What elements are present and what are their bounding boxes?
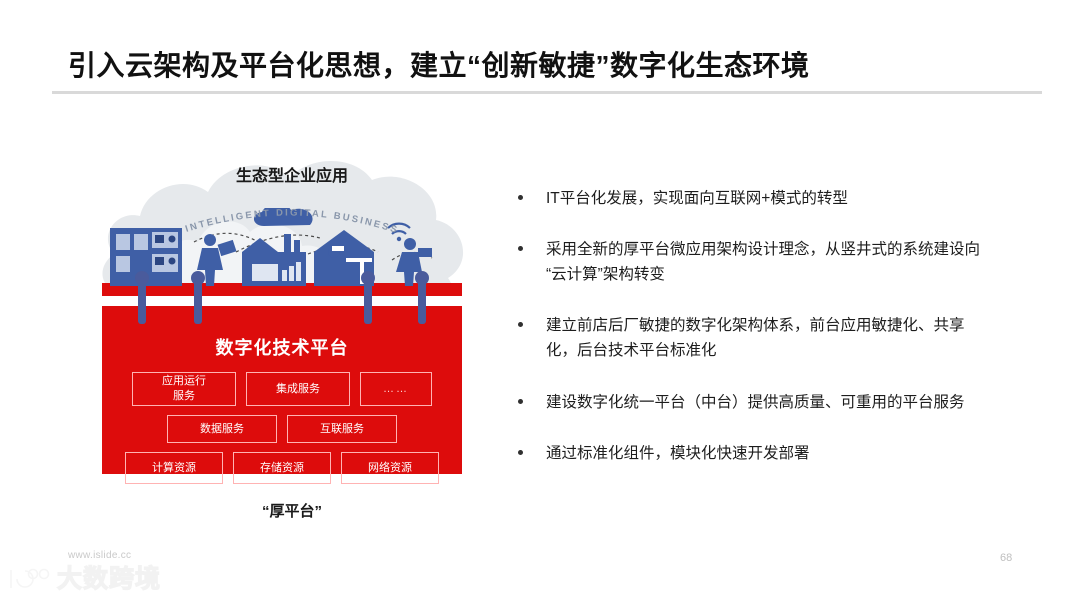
bullet-item-3: 建立前店后厂敏捷的数字化架构体系，前台应用敏捷化、共享化，后台技术平台标准化 xyxy=(512,313,982,363)
platform-caption: “厚平台” xyxy=(92,500,492,521)
bullet-text-5: 通过标准化组件，模块化快速开发部署 xyxy=(546,445,810,462)
platform-heading: 数字化技术平台 xyxy=(102,334,462,360)
service-box-storage: 存储资源 xyxy=(233,452,331,484)
platform-illustration: 生态型企业应用 INTELLIGENT DIGITAL BUSINESS xyxy=(92,150,492,550)
service-box-data: 数据服务 xyxy=(167,415,277,443)
page-number: 68 xyxy=(1000,552,1012,564)
bullet-text-3: 建立前店后厂敏捷的数字化架构体系，前台应用敏捷化、共享化，后台技术平台标准化 xyxy=(546,317,965,359)
service-row-3: 计算资源 存储资源 网络资源 xyxy=(102,452,462,484)
bullet-item-4: 建设数字化统一平台（中台）提供高质量、可重用的平台服务 xyxy=(512,390,982,415)
bullet-list: IT平台化发展，实现面向互联网+模式的转型 采用全新的厚平台微应用架构设计理念，… xyxy=(512,186,982,492)
service-box-app-runtime: 应用运行 服务 xyxy=(132,372,236,406)
service-box-integration: 集成服务 xyxy=(246,372,350,406)
slide-canvas: 引入云架构及平台化思想，建立“创新敏捷”数字化生态环境 生态型企业应用 INTE… xyxy=(0,0,1080,607)
arc-tagline: INTELLIGENT DIGITAL BUSINESS xyxy=(92,180,492,250)
page-title: 引入云架构及平台化思想，建立“创新敏捷”数字化生态环境 xyxy=(68,44,998,84)
service-box-app-runtime-line2: 服务 xyxy=(173,390,195,402)
bullet-item-1: IT平台化发展，实现面向互联网+模式的转型 xyxy=(512,186,982,211)
service-box-network: 网络资源 xyxy=(341,452,439,484)
service-box-ellipsis: …… xyxy=(360,372,432,406)
digital-platform-block: 数字化技术平台 应用运行 服务 集成服务 …… 数据服务 互联服务 xyxy=(102,283,462,474)
platform-gap xyxy=(102,296,462,306)
watermark: 大数跨境 xyxy=(6,566,161,592)
bullet-text-1: IT平台化发展，实现面向互联网+模式的转型 xyxy=(546,190,848,207)
arc-tagline-text: INTELLIGENT DIGITAL BUSINESS xyxy=(184,207,400,236)
platform-body: 数字化技术平台 应用运行 服务 集成服务 …… 数据服务 互联服务 xyxy=(102,306,462,474)
bullet-item-5: 通过标准化组件，模块化快速开发部署 xyxy=(512,441,982,466)
service-box-app-runtime-line1: 应用运行 xyxy=(162,375,206,387)
bullet-text-4: 建设数字化统一平台（中台）提供高质量、可重用的平台服务 xyxy=(546,394,965,411)
bullet-dot-icon xyxy=(518,399,523,404)
service-row-1: 应用运行 服务 集成服务 …… xyxy=(102,372,462,406)
watermark-logo-icon xyxy=(6,566,52,592)
bullet-item-2: 采用全新的厚平台微应用架构设计理念，从竖井式的系统建设向“云计算”架构转变 xyxy=(512,237,982,287)
bullet-dot-icon xyxy=(518,322,523,327)
bullet-dot-icon xyxy=(518,246,523,251)
watermark-text: 大数跨境 xyxy=(57,567,161,592)
service-box-interconnect: 互联服务 xyxy=(287,415,397,443)
title-divider xyxy=(52,91,1042,94)
bullet-dot-icon xyxy=(518,450,523,455)
service-box-compute: 计算资源 xyxy=(125,452,223,484)
service-row-2: 数据服务 互联服务 xyxy=(102,415,462,443)
bullet-dot-icon xyxy=(518,195,523,200)
site-url: www.islide.cc xyxy=(68,550,131,561)
bullet-text-2: 采用全新的厚平台微应用架构设计理念，从竖井式的系统建设向“云计算”架构转变 xyxy=(546,241,980,283)
